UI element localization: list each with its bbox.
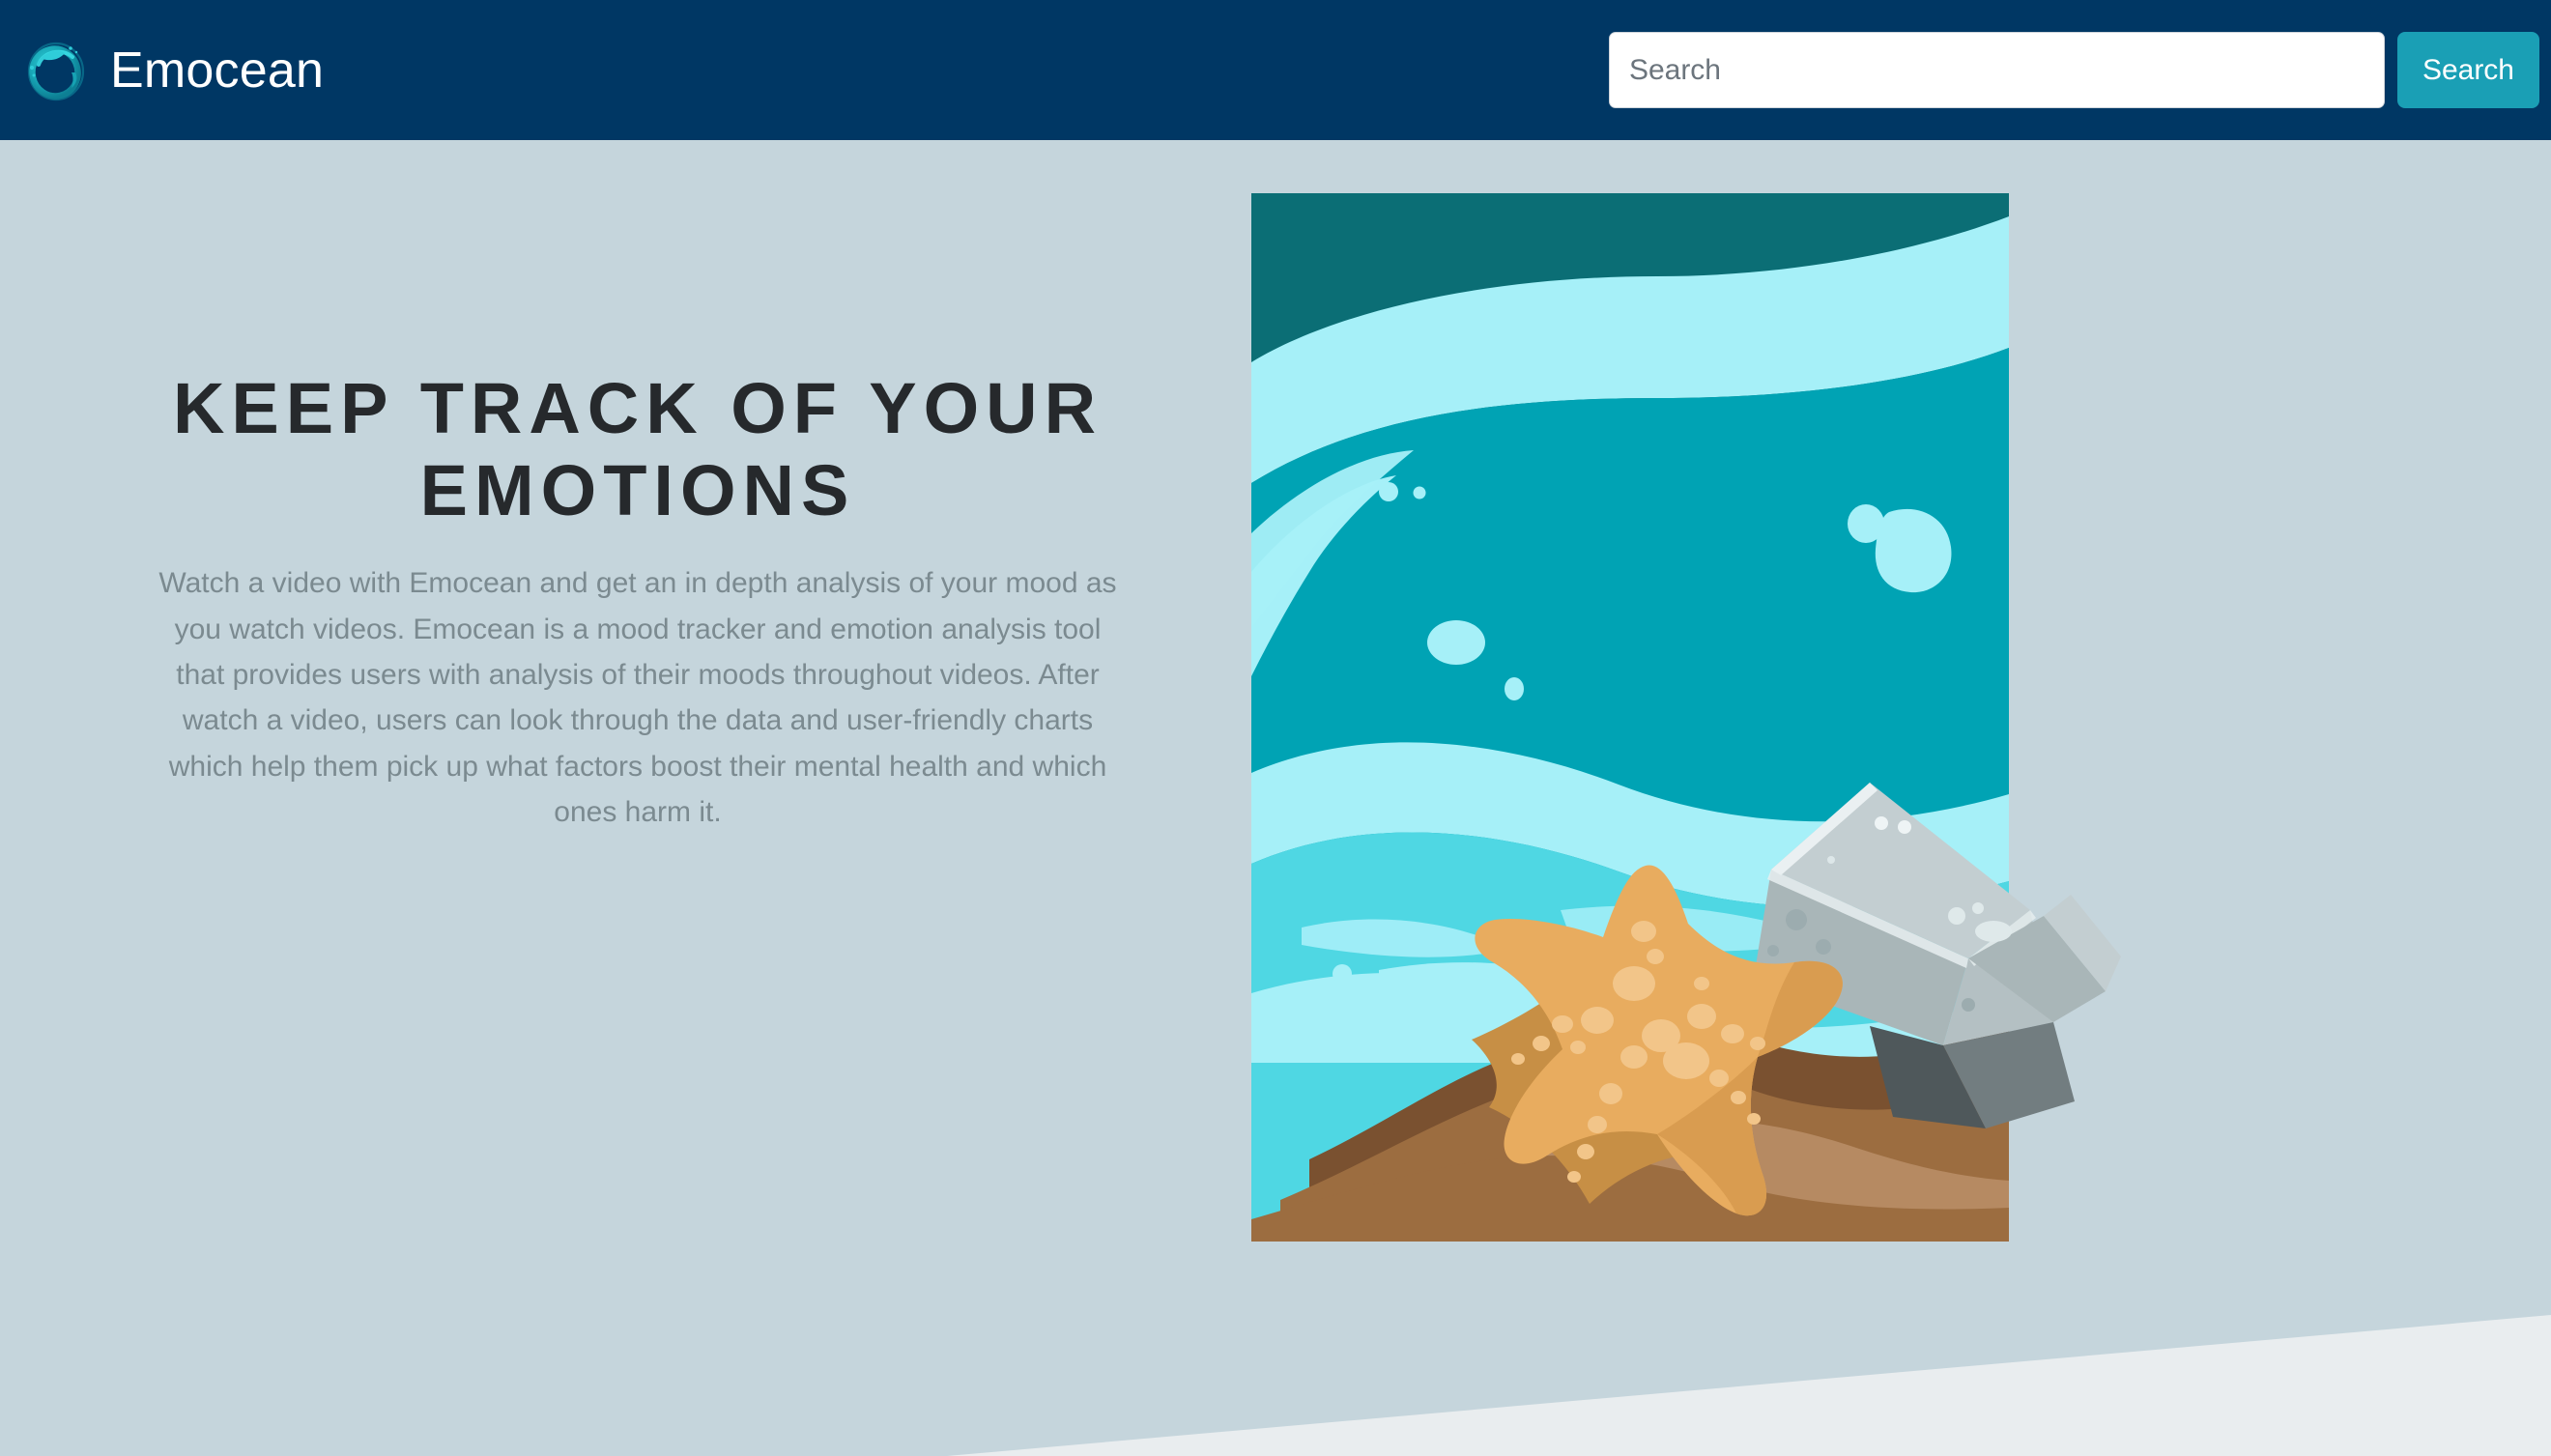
search-form: Search <box>1609 32 2539 108</box>
search-button[interactable]: Search <box>2397 32 2539 108</box>
top-navbar: Emocean Search <box>0 0 2551 140</box>
ocean-beach-illustration <box>1251 193 2009 1242</box>
water-swirl-logo-icon <box>21 36 91 105</box>
hero-text-block: KEEP TRACK OF YOUR EMOTIONS Watch a vide… <box>150 367 1126 836</box>
search-input[interactable] <box>1609 32 2385 108</box>
page-title: KEEP TRACK OF YOUR EMOTIONS <box>150 367 1126 531</box>
hero-description: Watch a video with Emocean and get an in… <box>150 560 1126 835</box>
brand-link[interactable]: Emocean <box>21 36 324 105</box>
hero-section: KEEP TRACK OF YOUR EMOTIONS Watch a vide… <box>0 140 2551 1456</box>
brand-name: Emocean <box>110 45 324 96</box>
